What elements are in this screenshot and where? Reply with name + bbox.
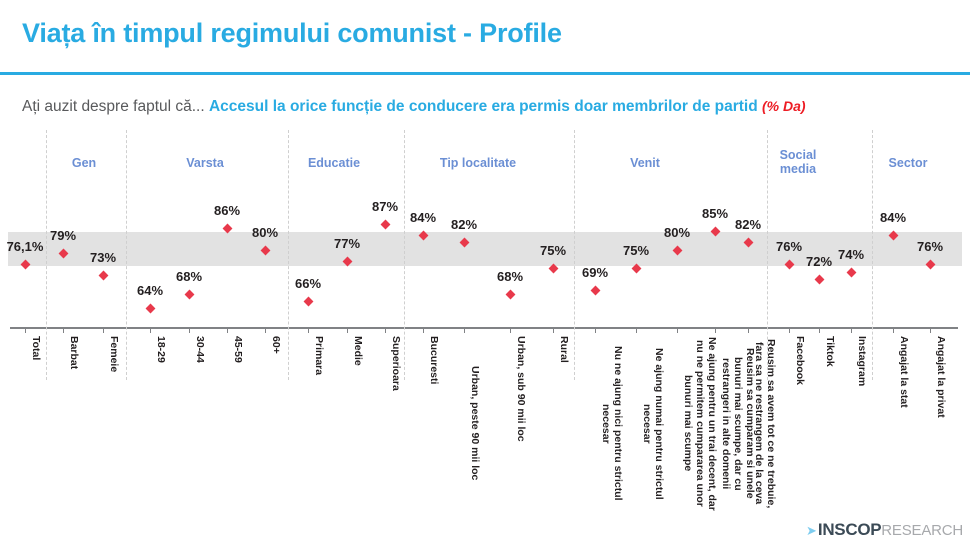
group-separator-4 <box>574 130 575 380</box>
group-label-venit: Venit <box>585 156 705 170</box>
value-label: 72% <box>806 254 832 269</box>
group-label-tip-localitate: Tip localitate <box>423 156 533 170</box>
category-label: Femeie <box>108 336 120 372</box>
subtitle-question: Accesul la orice funcție de conducere er… <box>209 98 762 115</box>
category-label: Urban, sub 90 mii loc <box>515 336 527 442</box>
subtitle: Ați auzit despre faptul că... Accesul la… <box>22 99 806 115</box>
category-label: Angajat la privat <box>935 336 947 418</box>
axis-tick <box>819 327 820 333</box>
value-label: 68% <box>176 269 202 284</box>
logo-suffix: RESEARCH <box>881 522 963 539</box>
category-label: Superioara <box>390 336 402 391</box>
value-label: 75% <box>540 243 566 258</box>
axis-tick <box>63 327 64 333</box>
axis-tick <box>715 327 716 333</box>
group-label-gen: Gen <box>49 156 119 170</box>
value-label: 77% <box>334 236 360 251</box>
category-label: 45-59 <box>232 336 244 363</box>
axis-tick <box>789 327 790 333</box>
category-label: Angajat la stat <box>898 336 910 408</box>
axis-tick <box>189 327 190 333</box>
value-label: 76% <box>917 239 943 254</box>
axis-tick <box>636 327 637 333</box>
category-label: Reusim sa cumparam si unele bunuri mai s… <box>720 336 756 511</box>
logo-name: INSCOP <box>818 520 881 540</box>
category-label: 60+ <box>270 336 282 354</box>
value-label: 76% <box>776 239 802 254</box>
category-label: Tiktok <box>824 336 836 367</box>
value-label: 80% <box>664 225 690 240</box>
category-label: Rural <box>558 336 570 363</box>
category-label: Ne ajung pentru un trai decent, dar nu n… <box>682 336 718 511</box>
axis-tick <box>385 327 386 333</box>
inscop-logo: ➤ INSCOP RESEARCH <box>806 520 963 540</box>
page-title: Viața în timpul regimului comunist - Pro… <box>22 18 562 49</box>
diamond-marker-icon <box>184 289 194 299</box>
axis-tick <box>464 327 465 333</box>
category-label: Urban, peste 90 mii loc <box>469 336 481 511</box>
axis-tick <box>930 327 931 333</box>
diamond-marker-icon <box>590 286 600 296</box>
category-label: Nu ne ajung nici pentru strictul necesar <box>600 336 624 511</box>
category-label: Facebook <box>794 336 806 385</box>
category-label: Bucuresti <box>428 336 440 384</box>
value-label: 75% <box>623 243 649 258</box>
axis-tick <box>347 327 348 333</box>
category-label: Reusim sa avem tot ce ne trebuie, fara s… <box>753 336 777 511</box>
axis-tick <box>893 327 894 333</box>
category-label: Medie <box>352 336 364 366</box>
value-label: 85% <box>702 206 728 221</box>
value-label: 66% <box>295 276 321 291</box>
axis-tick <box>150 327 151 333</box>
axis-tick <box>25 327 26 333</box>
diamond-marker-icon <box>145 304 155 314</box>
subtitle-lead: Ați auzit despre faptul că... <box>22 98 209 115</box>
category-label: Primara <box>313 336 325 375</box>
diamond-marker-icon <box>380 220 390 230</box>
group-separator-0 <box>46 130 47 380</box>
subtitle-metric: (% Da) <box>762 98 806 114</box>
axis-tick <box>553 327 554 333</box>
axis-tick <box>677 327 678 333</box>
value-label: 64% <box>137 283 163 298</box>
axis-tick <box>227 327 228 333</box>
logo-swoosh-icon: ➤ <box>806 524 817 537</box>
group-label-social-media: Social media <box>768 148 828 176</box>
value-label: 86% <box>214 203 240 218</box>
group-label-sector: Sector <box>873 156 943 170</box>
value-label: 68% <box>497 269 523 284</box>
axis-tick <box>423 327 424 333</box>
category-label: 30-44 <box>194 336 206 363</box>
axis-tick <box>308 327 309 333</box>
category-label: Total <box>30 336 42 360</box>
value-label: 73% <box>90 250 116 265</box>
title-divider <box>0 72 970 75</box>
axis-tick <box>103 327 104 333</box>
axis-tick <box>510 327 511 333</box>
axis-tick <box>748 327 749 333</box>
value-label: 84% <box>410 210 436 225</box>
chart-plot-area: GenVarstaEducatieTip localitateVenitSoci… <box>0 130 970 546</box>
x-axis-line <box>10 327 958 329</box>
value-label: 84% <box>880 210 906 225</box>
diamond-marker-icon <box>303 297 313 307</box>
axis-tick <box>851 327 852 333</box>
value-label: 87% <box>372 199 398 214</box>
group-label-educatie: Educatie <box>289 156 379 170</box>
category-label: 18-29 <box>155 336 167 363</box>
diamond-marker-icon <box>505 289 515 299</box>
diamond-marker-icon <box>814 275 824 285</box>
category-label: Ne ajung numai pentru strictul necesar <box>641 336 665 511</box>
group-separator-3 <box>404 130 405 380</box>
group-separator-1 <box>126 130 127 380</box>
category-label: Instagram <box>856 336 868 386</box>
value-label: 79% <box>50 228 76 243</box>
group-label-varsta: Varsta <box>165 156 245 170</box>
value-label: 80% <box>252 225 278 240</box>
diamond-marker-icon <box>846 267 856 277</box>
value-label: 82% <box>451 217 477 232</box>
value-label: 82% <box>735 217 761 232</box>
axis-tick <box>265 327 266 333</box>
value-label: 76,1% <box>7 239 44 254</box>
value-label: 74% <box>838 247 864 262</box>
category-label: Barbat <box>68 336 80 369</box>
axis-tick <box>595 327 596 333</box>
value-label: 69% <box>582 265 608 280</box>
slide-root: Viața în timpul regimului comunist - Pro… <box>0 0 970 546</box>
diamond-marker-icon <box>98 271 108 281</box>
